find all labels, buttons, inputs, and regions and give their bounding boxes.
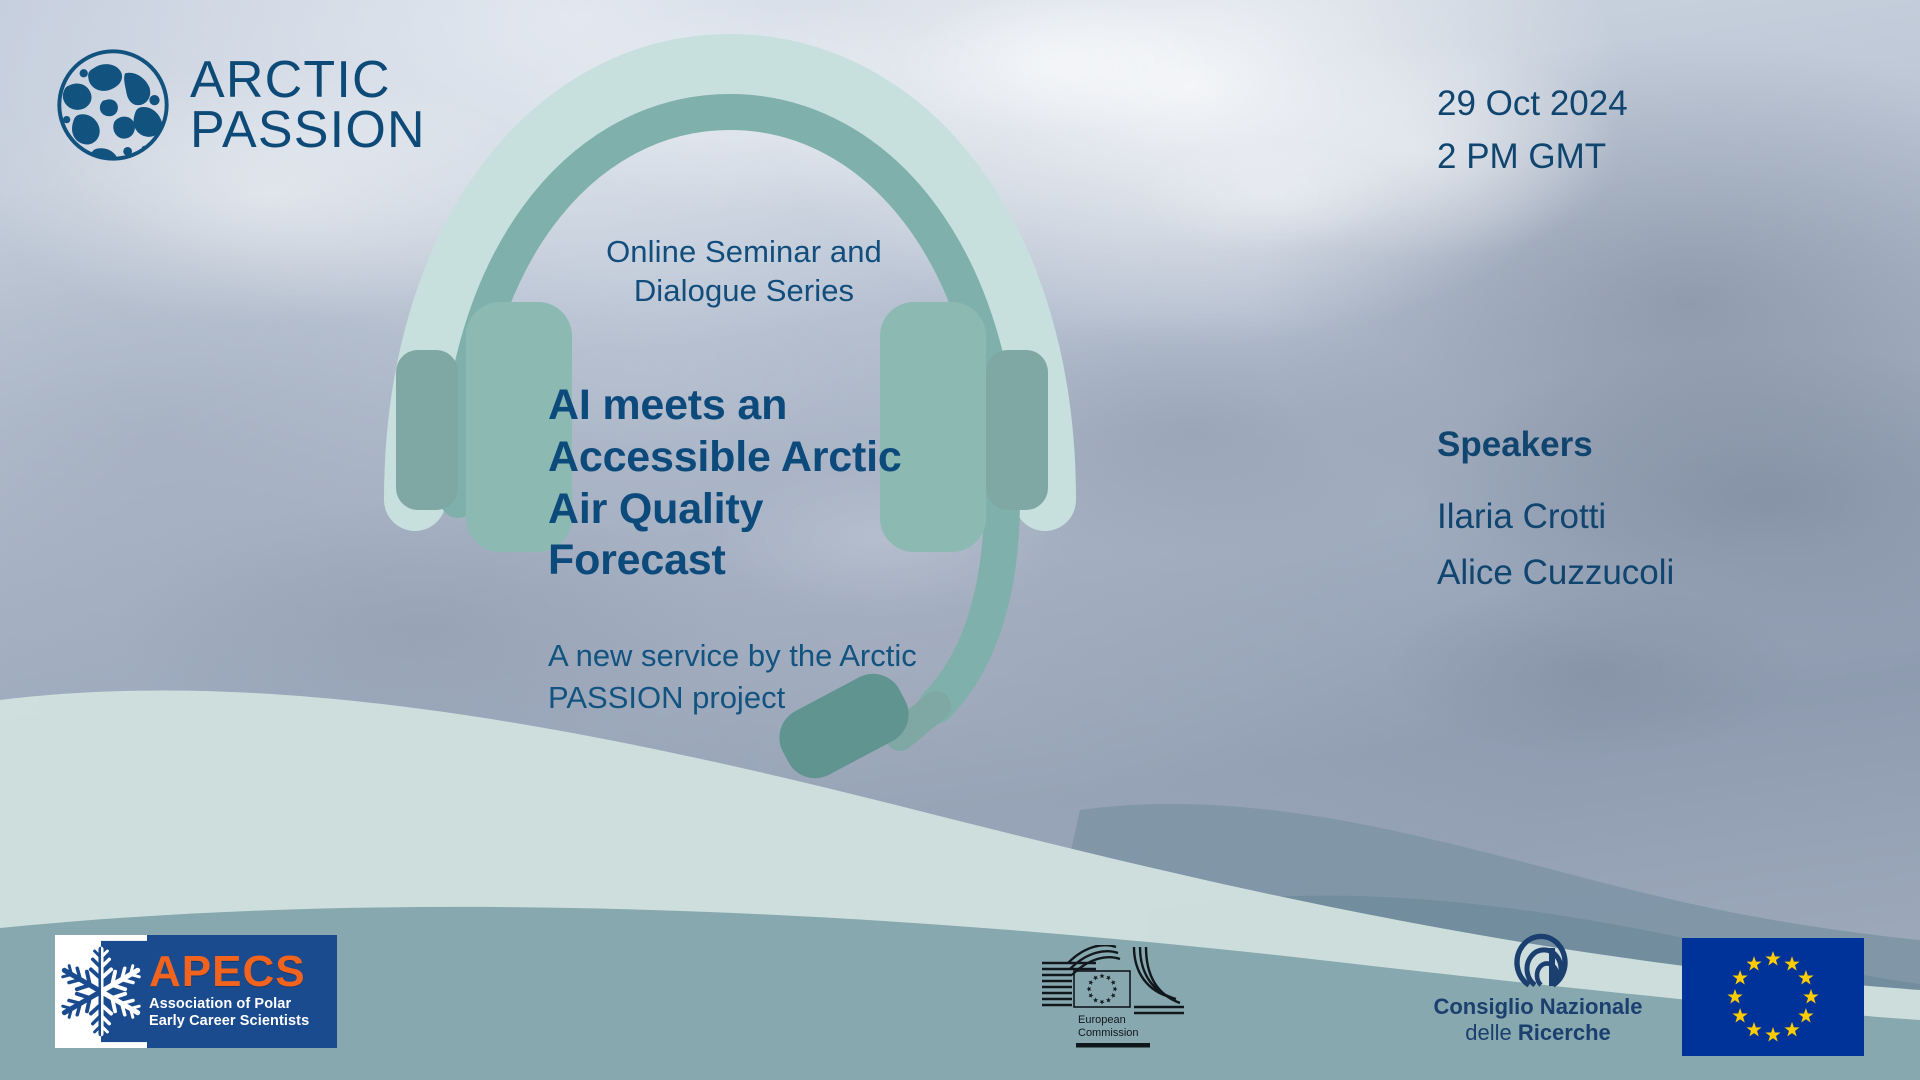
cnr-label-ricerche: Ricerche xyxy=(1518,1020,1611,1045)
event-datetime: 29 Oct 2024 2 PM GMT xyxy=(1437,78,1628,183)
european-commission-icon: European Commission xyxy=(1038,945,1198,1053)
speakers-block: Speakers Ilaria Crotti Alice Cuzzucoli xyxy=(1437,425,1674,601)
apecs-text: APECS Association of Polar Early Career … xyxy=(147,935,337,1048)
kicker-line-1: Online Seminar and xyxy=(548,232,940,272)
cnr-mark-glyph xyxy=(1499,928,1577,990)
speaker-name-2: Alice Cuzzucoli xyxy=(1437,545,1674,601)
cnr-label-delle: delle xyxy=(1465,1020,1518,1045)
eu-flag-icon xyxy=(1682,938,1864,1056)
eu-stars xyxy=(1682,938,1864,1056)
cnr-logo: Consiglio Nazionale delle Ricerche xyxy=(1418,928,1658,1045)
event-kicker: Online Seminar and Dialogue Series xyxy=(548,232,940,310)
cnr-spiral-icon xyxy=(1418,928,1658,990)
kicker-line-2: Dialogue Series xyxy=(548,271,940,311)
event-time: 2 PM GMT xyxy=(1437,131,1628,184)
apecs-tagline-line-2: Early Career Scientists xyxy=(149,1013,329,1030)
speakers-heading: Speakers xyxy=(1437,425,1674,465)
poster-canvas: ARCTIC PASSION Online Seminar and Dialog… xyxy=(0,0,1920,1080)
snowflake-glyph xyxy=(55,935,147,1048)
cnr-label-line-2: delle Ricerche xyxy=(1418,1020,1658,1046)
arctic-globe-icon xyxy=(52,44,174,166)
event-subtitle: A new service by the Arctic PASSION proj… xyxy=(548,635,940,719)
apecs-acronym: APECS xyxy=(149,951,329,993)
speaker-name-1: Ilaria Crotti xyxy=(1437,489,1674,545)
apecs-tagline-line-1: Association of Polar xyxy=(149,996,329,1013)
event-title: AI meets an Accessible Arctic Air Qualit… xyxy=(548,380,940,586)
arctic-passion-logo: ARCTIC PASSION xyxy=(52,44,426,166)
snowflake-icon xyxy=(55,935,147,1048)
ec-star-circle xyxy=(1086,973,1117,1004)
cnr-label-line-1: Consiglio Nazionale xyxy=(1418,994,1658,1020)
ec-label-line-1: European xyxy=(1078,1014,1126,1026)
event-date: 29 Oct 2024 xyxy=(1437,78,1628,131)
apecs-logo: APECS Association of Polar Early Career … xyxy=(55,935,337,1048)
event-text-block: Online Seminar and Dialogue Series AI me… xyxy=(548,232,940,718)
apecs-tagline: Association of Polar Early Career Scient… xyxy=(149,996,329,1030)
ec-label-line-2: Commission xyxy=(1078,1027,1139,1039)
